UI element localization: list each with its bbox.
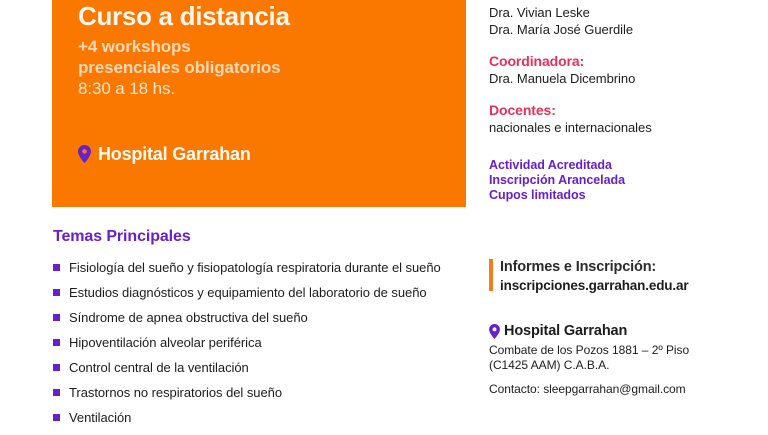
square-bullet-icon — [53, 389, 60, 396]
hero-banner: Curso a distancia +4 workshops presencia… — [52, 0, 466, 207]
list-item: Control central de la ventilación — [53, 360, 473, 376]
address-block: Hospital Garrahan Combate de los Pozos 1… — [489, 322, 764, 397]
list-item: Fisiología del sueño y fisiopatología re… — [53, 260, 473, 276]
square-bullet-icon — [53, 339, 60, 346]
highlights-group: Actividad Acreditada Inscripción Arancel… — [489, 158, 764, 203]
list-item-label: Control central de la ventilación — [69, 360, 249, 376]
faculty-detail: nacionales e internacionales — [489, 119, 764, 136]
list-item: Trastornos no respiratorios del sueño — [53, 385, 473, 401]
director-name-1: Dra. Vivian Leske — [489, 4, 764, 21]
registration-info: Informes e Inscripción: inscripciones.ga… — [489, 258, 764, 294]
hero-text-group: Curso a distancia +4 workshops presencia… — [78, 0, 454, 100]
registration-url[interactable]: inscripciones.garrahan.edu.ar — [500, 277, 764, 294]
list-item: Estudios diagnósticos y equipamiento del… — [53, 285, 473, 301]
list-item-label: Síndrome de apnea obstructiva del sueño — [69, 310, 308, 326]
spacer — [489, 136, 764, 158]
square-bullet-icon — [53, 364, 60, 371]
poster-page: Curso a distancia +4 workshops presencia… — [0, 0, 768, 432]
list-item-label: Hipoventilación alveolar periférica — [69, 335, 262, 351]
topics-section: Temas Principales Fisiología del sueño y… — [53, 228, 473, 435]
highlight-paid-registration: Inscripción Arancelada — [489, 173, 764, 188]
topics-list: Fisiología del sueño y fisiopatología re… — [53, 260, 473, 426]
square-bullet-icon — [53, 414, 60, 421]
location-pin-icon — [489, 324, 500, 339]
address-street: Combate de los Pozos 1881 – 2º Piso — [489, 343, 764, 358]
hero-hours: 8:30 a 18 hs. — [78, 78, 454, 100]
registration-heading: Informes e Inscripción: — [500, 258, 764, 276]
hero-venue: Hospital Garrahan — [78, 144, 251, 164]
highlight-limited-spots: Cupos limitados — [489, 188, 764, 203]
square-bullet-icon — [53, 314, 60, 321]
highlight-accredited: Actividad Acreditada — [489, 158, 764, 173]
topics-heading: Temas Principales — [53, 228, 473, 246]
director-name-2: Dra. María José Guerdile — [489, 21, 764, 38]
hero-subtitle-line1: +4 workshops — [78, 36, 454, 57]
hero-subtitle-line2: presenciales obligatorios — [78, 57, 454, 78]
location-pin-icon — [78, 145, 91, 163]
list-item-label: Fisiología del sueño y fisiopatología re… — [69, 260, 441, 276]
list-item-label: Ventilación — [69, 410, 131, 426]
list-item: Síndrome de apnea obstructiva del sueño — [53, 310, 473, 326]
address-postal: (C1425 AAM) C.A.B.A. — [489, 358, 764, 373]
list-item-label: Estudios diagnósticos y equipamiento del… — [69, 285, 427, 301]
coordinator-heading: Coordinadora: — [489, 52, 764, 70]
faculty-heading: Docentes: — [489, 101, 764, 119]
address-contact-email[interactable]: Contacto: sleepgarrahan@gmail.com — [489, 382, 764, 397]
coordinator-name: Dra. Manuela Dicembrino — [489, 70, 764, 87]
right-column: Dra. Vivian Leske Dra. María José Guerdi… — [489, 0, 764, 203]
square-bullet-icon — [53, 264, 60, 271]
list-item-label: Trastornos no respiratorios del sueño — [69, 385, 282, 401]
spacer — [489, 38, 764, 52]
address-venue: Hospital Garrahan — [489, 322, 764, 340]
list-item: Ventilación — [53, 410, 473, 426]
address-venue-label: Hospital Garrahan — [504, 322, 627, 340]
list-item: Hipoventilación alveolar periférica — [53, 335, 473, 351]
hero-title: Curso a distancia — [78, 0, 454, 32]
spacer — [489, 87, 764, 101]
hero-venue-label: Hospital Garrahan — [98, 144, 251, 164]
square-bullet-icon — [53, 289, 60, 296]
